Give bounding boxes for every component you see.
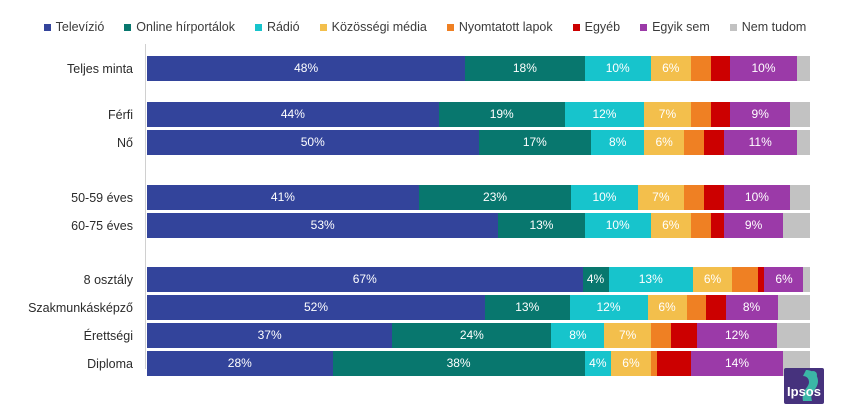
bar-segment[interactable]: 10% [730,56,796,81]
legend-label: Egyik sem [652,21,710,34]
segment-value-label: 18% [513,62,537,75]
segment-value-label: 10% [745,191,769,204]
category-label: 60-75 éves [0,219,140,233]
chart-row: Férfi44%19%12%7%9% [0,102,850,127]
bar-segment[interactable]: 50% [147,130,479,155]
bar-segment[interactable]: 11% [724,130,797,155]
bar-segment[interactable] [711,213,724,238]
square-swatch-icon [573,24,580,31]
segment-value-label: 67% [353,273,377,286]
stacked-bar-chart: TelevízióOnline hírportálokRádióKözösség… [0,0,850,410]
segment-value-label: 19% [490,108,514,121]
segment-value-label: 24% [460,329,484,342]
segment-value-label: 14% [725,357,749,370]
segment-value-label: 28% [228,357,252,370]
bar-segment[interactable]: 19% [439,102,565,127]
bar-segment[interactable] [691,102,711,127]
bar-segment[interactable] [684,185,704,210]
bar-segment[interactable] [732,267,758,292]
bar-segment[interactable]: 8% [726,295,778,320]
bar-segment[interactable]: 10% [585,213,651,238]
stacked-bar: 48%18%10%6%10% [147,56,810,81]
bar-segment[interactable] [706,295,726,320]
segment-value-label: 12% [596,301,620,314]
category-label: 8 osztály [0,273,140,287]
bar-segment[interactable] [711,56,731,81]
segment-value-label: 10% [606,62,630,75]
bar-segment[interactable] [671,323,698,348]
bar-segment[interactable] [651,351,658,376]
bar-segment[interactable]: 6% [611,351,651,376]
bar-segment[interactable]: 6% [693,267,732,292]
stacked-bar: 37%24%8%7%12% [147,323,810,348]
bar-segment[interactable]: 67% [147,267,583,292]
segment-value-label: 44% [281,108,305,121]
bar-segment[interactable]: 6% [764,267,803,292]
stacked-bar: 53%13%10%6%9% [147,213,810,238]
segment-value-label: 9% [752,108,769,121]
stacked-bar: 28%38%4%6%14% [147,351,810,376]
segment-value-label: 41% [271,191,295,204]
legend-item[interactable]: Televízió [44,21,105,34]
bar-segment[interactable]: 4% [585,351,612,376]
bar-segment[interactable]: 53% [147,213,498,238]
bar-segment[interactable]: 12% [570,295,648,320]
segment-value-label: 7% [659,108,676,121]
square-swatch-icon [447,24,454,31]
category-label: Érettségi [0,329,140,343]
stacked-bar: 52%13%12%6%8% [147,295,810,320]
bar-segment[interactable]: 28% [147,351,333,376]
bar-segment[interactable] [790,185,810,210]
segment-value-label: 13% [529,219,553,232]
bar-segment[interactable]: 12% [697,323,777,348]
segment-value-label: 10% [592,191,616,204]
legend-label: Televízió [56,21,105,34]
legend-label: Rádió [267,21,300,34]
bar-segment[interactable]: 52% [147,295,485,320]
segment-value-label: 12% [725,329,749,342]
segment-value-label: 6% [775,273,792,286]
segment-value-label: 50% [301,136,325,149]
segment-value-label: 6% [662,62,679,75]
segment-value-label: 10% [752,62,776,75]
segment-value-label: 4% [589,357,606,370]
bar-segment[interactable]: 6% [651,213,691,238]
bar-segment[interactable]: 4% [583,267,609,292]
bar-segment[interactable]: 7% [638,185,684,210]
bar-segment[interactable] [687,295,707,320]
square-swatch-icon [640,24,647,31]
category-label: Szakmunkásképző [0,301,140,315]
bar-segment[interactable] [711,102,731,127]
bar-segment[interactable] [704,185,724,210]
bar-segment[interactable] [691,56,711,81]
segment-value-label: 10% [606,219,630,232]
bar-segment[interactable]: 13% [498,213,584,238]
legend-label: Nyomtatott lapok [459,21,553,34]
bar-segment[interactable]: 24% [392,323,551,348]
category-label: 50-59 éves [0,191,140,205]
bar-segment[interactable] [797,130,810,155]
chart-legend: TelevízióOnline hírportálokRádióKözösség… [0,16,850,38]
legend-label: Nem tudom [742,21,807,34]
segment-value-label: 17% [523,136,547,149]
chart-row: Nő50%17%8%6%11% [0,130,850,155]
bar-segment[interactable]: 23% [419,185,571,210]
bar-segment[interactable] [657,351,690,376]
segment-value-label: 6% [704,273,721,286]
bar-segment[interactable]: 8% [591,130,644,155]
bar-segment[interactable] [778,295,811,320]
bar-segment[interactable]: 14% [691,351,784,376]
bar-segment[interactable]: 7% [604,323,650,348]
bar-segment[interactable] [691,213,711,238]
category-label: Diploma [0,357,140,371]
chart-row: Szakmunkásképző52%13%12%6%8% [0,295,850,320]
segment-value-label: 6% [622,357,639,370]
legend-item[interactable]: Rádió [255,21,300,34]
legend-item[interactable]: Online hírportálok [124,21,235,34]
segment-value-label: 23% [483,191,507,204]
bar-segment[interactable]: 13% [485,295,570,320]
category-label: Nő [0,136,140,150]
bar-segment[interactable] [704,130,724,155]
bar-segment[interactable] [797,56,810,81]
stacked-bar: 41%23%10%7%10% [147,185,810,210]
bar-segment[interactable]: 10% [571,185,637,210]
segment-value-label: 7% [619,329,636,342]
bar-segment[interactable]: 17% [479,130,592,155]
square-swatch-icon [255,24,262,31]
segment-value-label: 7% [652,191,669,204]
bar-segment[interactable] [684,130,704,155]
stacked-bar: 50%17%8%6%11% [147,130,810,155]
bar-segment[interactable]: 10% [724,185,790,210]
segment-value-label: 13% [639,273,663,286]
segment-value-label: 38% [447,357,471,370]
segment-value-label: 13% [515,301,539,314]
segment-value-label: 6% [658,301,675,314]
segment-value-label: 8% [569,329,586,342]
bar-segment[interactable]: 12% [565,102,645,127]
square-swatch-icon [320,24,327,31]
bar-segment[interactable] [790,102,810,127]
stacked-bar: 67%4%13%6%6% [147,267,810,292]
bar-segment[interactable]: 9% [730,102,790,127]
segment-value-label: 37% [258,329,282,342]
segment-value-label: 11% [749,136,772,149]
square-swatch-icon [730,24,737,31]
plot-area: Teljes minta48%18%10%6%10%Férfi44%19%12%… [0,44,850,369]
segment-value-label: 4% [587,273,604,286]
bar-segment[interactable]: 44% [147,102,439,127]
bar-segment[interactable]: 38% [333,351,585,376]
legend-label: Online hírportálok [136,21,235,34]
bar-segment[interactable]: 6% [648,295,687,320]
legend-label: Egyéb [585,21,620,34]
segment-value-label: 48% [294,62,318,75]
segment-value-label: 52% [304,301,328,314]
bar-segment[interactable]: 6% [651,56,691,81]
bar-segment[interactable] [803,267,809,292]
bar-segment[interactable]: 9% [724,213,784,238]
svg-text:Ipsos: Ipsos [787,384,821,399]
bar-segment[interactable]: 48% [147,56,465,81]
chart-row: 50-59 éves41%23%10%7%10% [0,185,850,210]
square-swatch-icon [124,24,131,31]
chart-row: Érettségi37%24%8%7%12% [0,323,850,348]
chart-row: 8 osztály67%4%13%6%6% [0,267,850,292]
ipsos-logo: Ipsos [776,368,840,404]
square-swatch-icon [44,24,51,31]
legend-item[interactable]: Egyéb [573,21,620,34]
bar-segment[interactable] [651,323,671,348]
segment-value-label: 9% [745,219,762,232]
legend-item[interactable]: Nem tudom [730,21,807,34]
legend-item[interactable]: Közösségi média [320,21,427,34]
bar-segment[interactable]: 13% [609,267,694,292]
legend-item[interactable]: Nyomtatott lapok [447,21,553,34]
category-label: Teljes minta [0,62,140,76]
category-label: Férfi [0,108,140,122]
bar-segment[interactable]: 6% [644,130,684,155]
stacked-bar: 44%19%12%7%9% [147,102,810,127]
legend-label: Közösségi média [332,21,427,34]
segment-value-label: 6% [662,219,679,232]
chart-row: 60-75 éves53%13%10%6%9% [0,213,850,238]
bar-segment[interactable]: 18% [465,56,584,81]
segment-value-label: 12% [592,108,616,121]
bar-segment[interactable]: 8% [551,323,604,348]
bar-segment[interactable] [783,213,810,238]
bar-segment[interactable]: 37% [147,323,392,348]
bar-segment[interactable]: 10% [585,56,651,81]
bar-segment[interactable]: 7% [644,102,690,127]
bar-segment[interactable]: 41% [147,185,419,210]
segment-value-label: 53% [311,219,335,232]
legend-item[interactable]: Egyik sem [640,21,710,34]
segment-value-label: 8% [609,136,626,149]
segment-value-label: 8% [743,301,760,314]
chart-row: Diploma28%38%4%6%14% [0,351,850,376]
segment-value-label: 6% [655,136,672,149]
bar-segment[interactable] [777,323,810,348]
chart-row: Teljes minta48%18%10%6%10% [0,56,850,81]
